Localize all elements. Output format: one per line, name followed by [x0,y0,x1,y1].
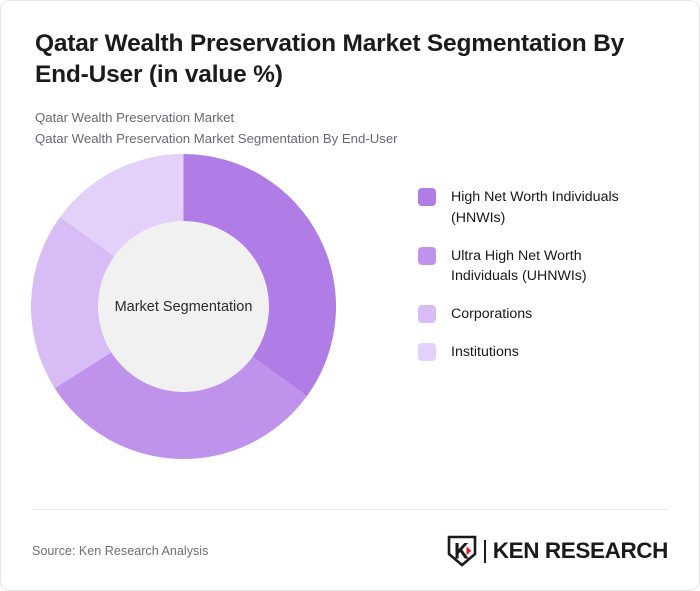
subtitle-group: Qatar Wealth Preservation Market Qatar W… [35,108,665,150]
legend-item-corporations[interactable]: Corporations [418,304,668,324]
legend-label: Ultra High Net Worth Individuals (UHNWIs… [451,246,651,286]
ken-research-logo: KEN RESEARCH [447,535,668,567]
legend-label: Corporations [451,304,532,324]
chart-legend: High Net Worth Individuals (HNWIs) Ultra… [418,187,668,380]
subtitle-market: Qatar Wealth Preservation Market [35,108,665,129]
legend-item-uhnwi[interactable]: Ultra High Net Worth Individuals (UHNWIs… [418,246,668,286]
chart-header: Qatar Wealth Preservation Market Segment… [1,1,699,149]
chart-body: Market Segmentation High Net Worth Indiv… [1,149,699,479]
legend-label: Institutions [451,342,519,362]
page-title: Qatar Wealth Preservation Market Segment… [35,29,660,91]
chart-footer: Source: Ken Research Analysis KEN RESEAR… [32,531,668,571]
donut-svg [31,154,336,459]
legend-item-institutions[interactable]: Institutions [418,342,668,362]
legend-label: High Net Worth Individuals (HNWIs) [451,187,651,227]
legend-swatch-icon [418,305,436,323]
donut-hole [98,222,269,393]
footer-divider [32,509,668,510]
logo-wordmark: KEN RESEARCH [493,538,668,564]
logo-divider [484,540,486,563]
ken-research-shield-icon [447,535,477,567]
subtitle-segmentation: Qatar Wealth Preservation Market Segment… [35,129,665,150]
legend-swatch-icon [418,188,436,206]
chart-card: Qatar Wealth Preservation Market Segment… [0,0,700,591]
donut-chart: Market Segmentation [31,154,336,459]
source-label: Source: Ken Research Analysis [32,544,208,558]
legend-swatch-icon [418,247,436,265]
legend-swatch-icon [418,343,436,361]
legend-item-hnwi[interactable]: High Net Worth Individuals (HNWIs) [418,187,668,227]
